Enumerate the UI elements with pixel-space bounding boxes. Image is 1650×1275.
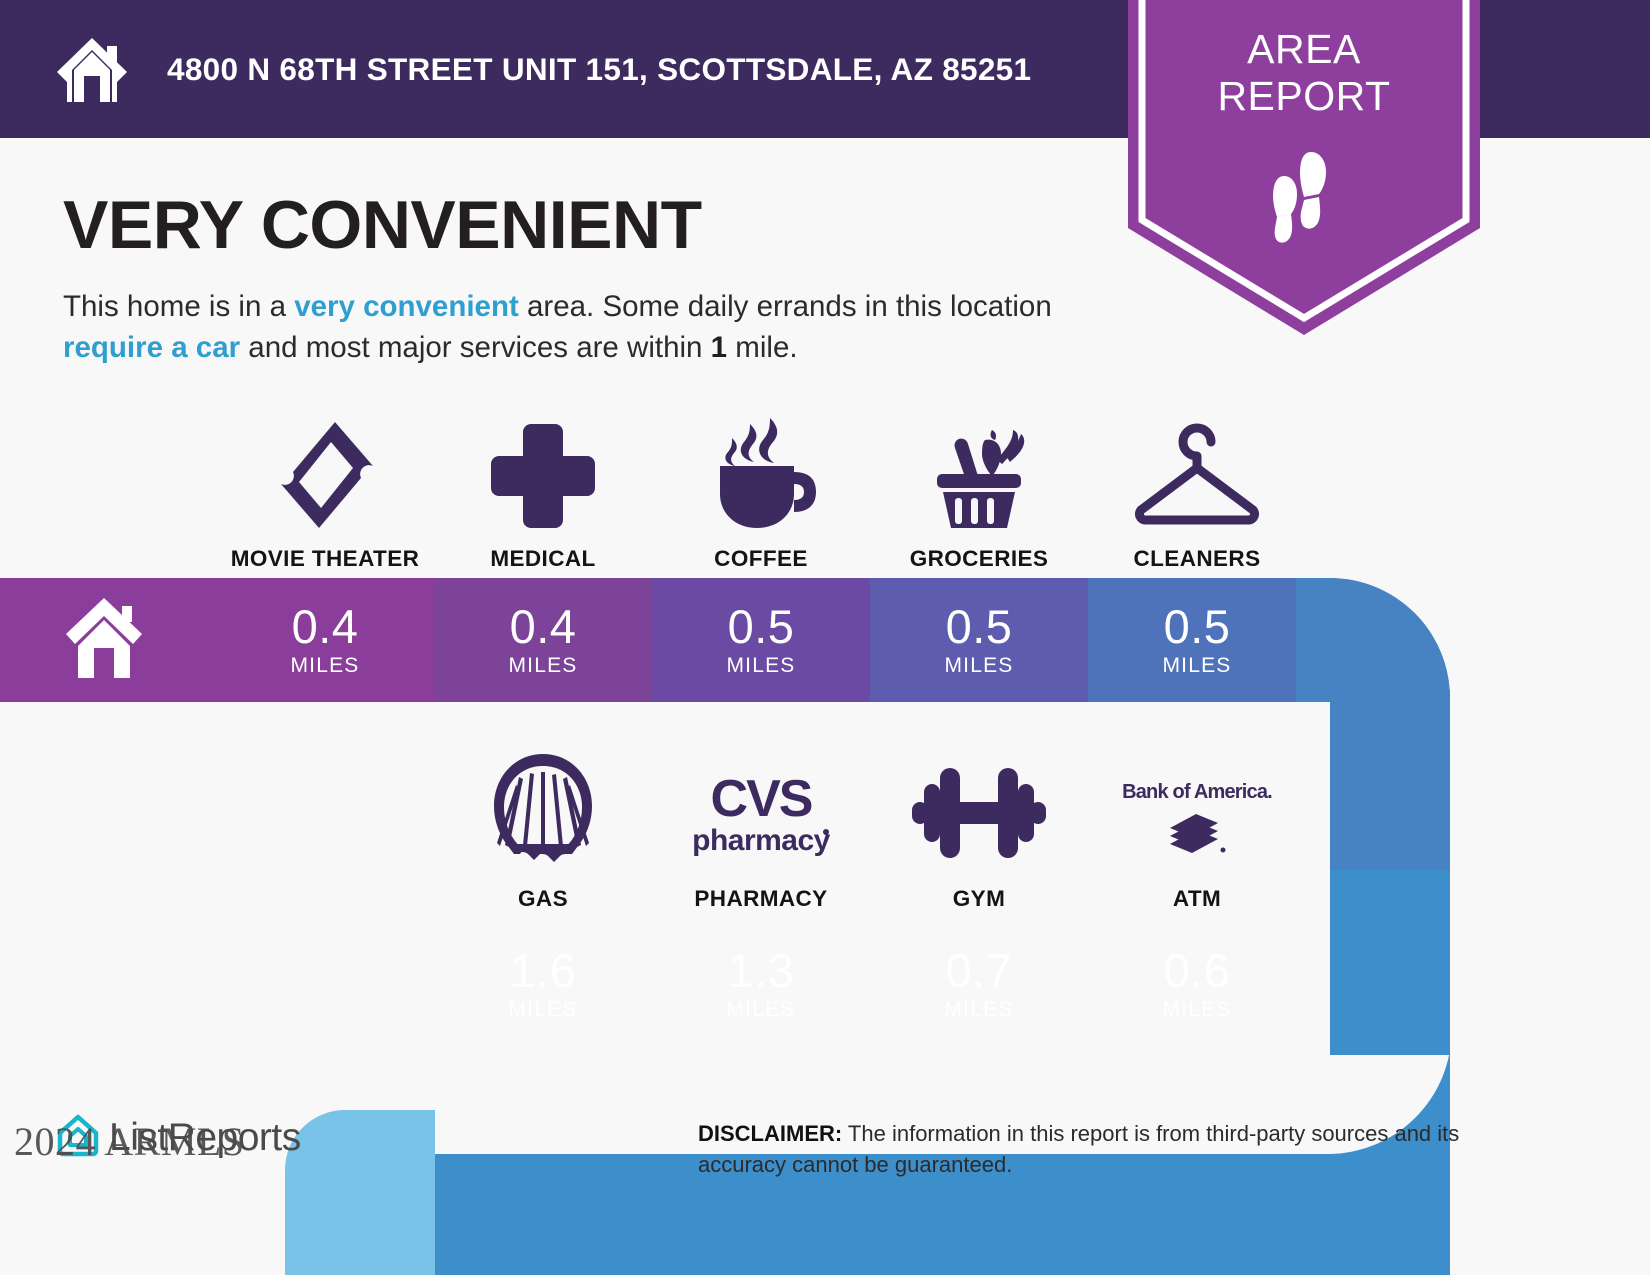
distance-unit: MILES (508, 998, 577, 1022)
amenity-cleaners: CLEANERS (1088, 418, 1306, 572)
home-marker-icon (64, 594, 144, 678)
amenity-gym: GYM (870, 752, 1088, 912)
medical-cross-icon (491, 418, 595, 530)
distance-cell-pharmacy: 1.3 MILES (652, 922, 870, 1046)
distance-unit: MILES (290, 654, 359, 678)
coffee-cup-icon (706, 418, 816, 530)
distance-cell-movie-theater: 0.4 MILES (216, 578, 434, 702)
distance-unit: MILES (1162, 998, 1231, 1022)
distance-cell-gas: 1.6 MILES (434, 922, 652, 1046)
cvs-pharmacy-icon: CVS pharmacy (686, 752, 836, 864)
amenity-gas: GAS (434, 752, 652, 912)
distance-row-primary: 0.4 MILES 0.4 MILES 0.5 MILES 0.5 MILES … (216, 578, 1306, 702)
amenity-atm: Bank of America. ATM (1088, 752, 1306, 912)
distance-cell-atm: 0.6 MILES (1088, 922, 1306, 1046)
distance-unit: MILES (944, 998, 1013, 1022)
distance-cell-groceries: 0.5 MILES (870, 578, 1088, 702)
distance-value: 0.4 (510, 602, 577, 652)
distance-value: 1.3 (728, 946, 795, 996)
amenity-coffee: COFFEE (652, 418, 870, 572)
distance-unit: MILES (726, 654, 795, 678)
amenity-medical: MEDICAL (434, 418, 652, 572)
footprints-icon (1259, 150, 1351, 246)
distance-unit: MILES (944, 654, 1013, 678)
shell-gas-icon (490, 752, 596, 864)
movie-ticket-icon (273, 418, 377, 530)
amenity-label: GAS (518, 886, 568, 912)
disclaimer: DISCLAIMER: The information in this repo… (698, 1118, 1518, 1180)
distance-cell-gym: 0.7 MILES (870, 922, 1088, 1046)
distance-cell-coffee: 0.5 MILES (652, 578, 870, 702)
distance-unit: MILES (508, 654, 577, 678)
mls-watermark: 2024 ARMLS (14, 1118, 245, 1165)
amenity-label: GYM (953, 886, 1005, 912)
bank-of-america-icon: Bank of America. (1122, 752, 1272, 864)
distance-value: 0.5 (946, 602, 1013, 652)
distance-value: 0.6 (1164, 946, 1231, 996)
svg-text:CVS: CVS (711, 770, 812, 828)
badge-line2: REPORT (1128, 73, 1480, 120)
amenity-icon-row-secondary: GAS CVS pharmacy PHARMACY (434, 752, 1306, 912)
area-report-page: 4800 N 68TH STREET UNIT 151, SCOTTSDALE,… (0, 0, 1650, 1275)
svg-text:pharmacy: pharmacy (692, 824, 831, 857)
amenity-movie-theater: MOVIE THEATER (216, 418, 434, 572)
amenity-icon-row-primary: MOVIE THEATER MEDICAL (216, 418, 1306, 572)
dumbbell-icon (912, 752, 1046, 864)
amenity-label: CLEANERS (1134, 546, 1261, 572)
distance-value: 0.4 (292, 602, 359, 652)
disclaimer-label: DISCLAIMER: (698, 1121, 842, 1146)
amenity-label: COFFEE (714, 546, 808, 572)
badge-title: AREA REPORT (1128, 26, 1480, 120)
distance-value: 0.5 (1164, 602, 1231, 652)
amenity-groceries: GROCERIES (870, 418, 1088, 572)
amenity-label: MEDICAL (490, 546, 595, 572)
distance-row-secondary: 1.6 MILES 1.3 MILES 0.7 MILES 0.6 MILES (434, 922, 1306, 1046)
ribbon-seg-turn (1296, 576, 1456, 706)
amenity-label: MOVIE THEATER (231, 546, 420, 572)
svg-text:Bank of America.: Bank of America. (1122, 781, 1272, 803)
grocery-basket-icon (921, 418, 1037, 530)
distance-value: 1.6 (510, 946, 577, 996)
distance-cell-cleaners: 0.5 MILES (1088, 578, 1306, 702)
clothes-hanger-icon (1129, 418, 1265, 530)
distance-cell-medical: 0.4 MILES (434, 578, 652, 702)
distance-value: 0.7 (946, 946, 1013, 996)
amenity-label: PHARMACY (694, 886, 827, 912)
distance-unit: MILES (1162, 654, 1231, 678)
amenity-label: ATM (1173, 886, 1221, 912)
badge-line1: AREA (1128, 26, 1480, 73)
amenity-label: GROCERIES (910, 546, 1049, 572)
amenity-pharmacy: CVS pharmacy PHARMACY (652, 752, 870, 912)
distance-value: 0.5 (728, 602, 795, 652)
area-report-badge: AREA REPORT (1128, 0, 1480, 335)
distance-unit: MILES (726, 998, 795, 1022)
